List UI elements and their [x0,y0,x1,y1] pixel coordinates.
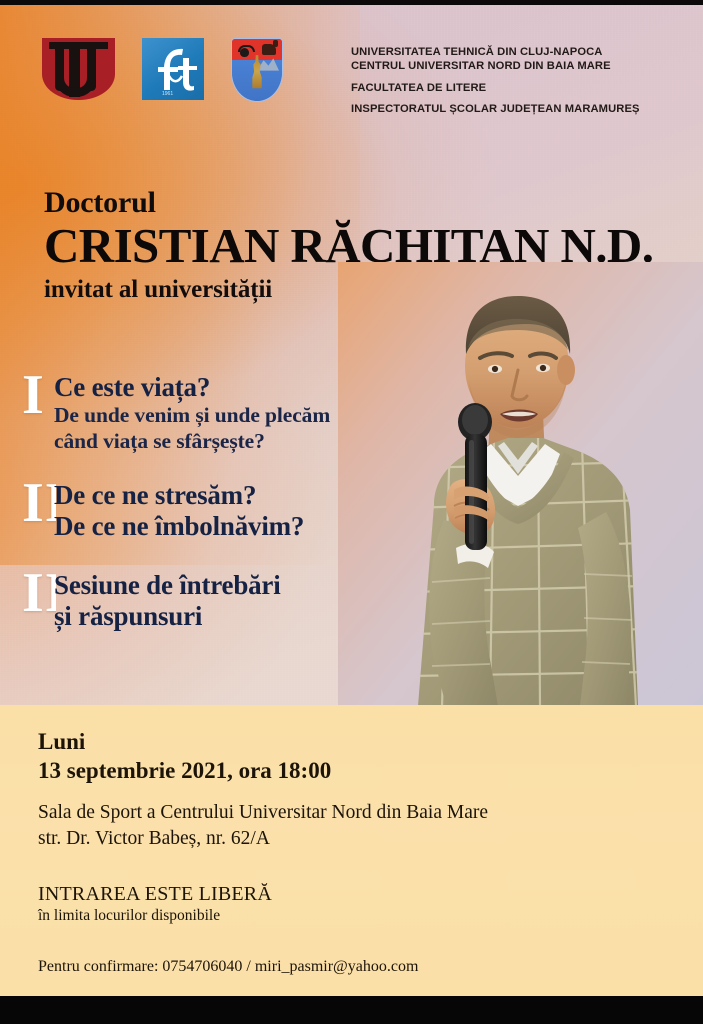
agenda-heading: Sesiune de întrebări [54,570,382,601]
faculty-of-letters-logo: 1961 [142,38,204,100]
utcn-logo [42,38,115,100]
agenda-item: II De ce ne stresăm? De ce ne îmbolnăvim… [22,480,382,544]
agenda-item: III Sesiune de întrebări și răspunsuri [22,570,382,634]
title-eyebrow: Doctorul [44,186,653,220]
agenda-numeral: I [22,374,56,436]
agenda-heading: Ce este viața? [54,372,382,403]
coa-animal-icon [262,44,276,55]
agenda-subline-1: și răspunsuri [54,601,382,632]
org-line-faculty: FACULTATEA DE LITERE [351,81,640,95]
agenda-numeral: II [22,482,56,544]
agenda-subline-1: De unde venim și unde plecăm [54,403,382,429]
free-entry-note: în limita locurilor disponibile [38,906,658,926]
speaker-photograph [338,262,703,706]
contact-line: Pentru confirmare: 0754706040 / miri_pas… [38,956,658,978]
org-line-center: CENTRUL UNIVERSITAR NORD DIN BAIA MARE [351,59,640,73]
agenda-heading: De ce ne stresăm? [54,480,382,511]
agenda-item-text: Sesiune de întrebări și răspunsuri [54,570,382,632]
coa-shield-shape [231,38,283,102]
agenda-list: I Ce este viața? De unde venim și unde p… [22,372,382,634]
svg-text:1961: 1961 [162,91,173,97]
agenda-item-text: Ce este viața? De unde venim și unde ple… [54,372,382,454]
top-black-bar [0,0,703,5]
event-day: Luni [38,727,658,756]
event-venue: Sala de Sport a Centrului Universitar No… [38,800,658,826]
free-entry-notice: INTRAREA ESTE LIBERĂ [38,882,658,906]
agenda-item: I Ce este viața? De unde venim și unde p… [22,372,382,454]
agenda-subline-2: când viața se sfârșește? [54,429,382,455]
coa-bull-head-icon [238,44,251,58]
poster-header: 1961 UNIVERSITATEA TEHNICĂ DIN CLUJ-NAPO… [0,5,703,125]
event-info-block: Luni 13 septembrie 2021, ora 18:00 Sala … [38,727,658,978]
agenda-numeral: III [22,572,56,634]
agenda-subline-1: De ce ne îmbolnăvim? [54,511,382,542]
org-line-university: UNIVERSITATEA TEHNICĂ DIN CLUJ-NAPOCA [351,45,640,59]
agenda-item-text: De ce ne stresăm? De ce ne îmbolnăvim? [54,480,382,542]
bottom-black-bar [0,996,703,1024]
event-address: str. Dr. Victor Babeș, nr. 62/A [38,826,658,852]
org-line-inspectorate: INSPECTORATUL ȘCOLAR JUDEȚEAN MARAMUREȘ [351,102,640,116]
organizer-text-block: UNIVERSITATEA TEHNICĂ DIN CLUJ-NAPOCA CE… [351,45,640,116]
poster-root: 1961 UNIVERSITATEA TEHNICĂ DIN CLUJ-NAPO… [0,0,703,1024]
maramures-coat-of-arms [231,38,283,102]
logo-row: 1961 [42,38,283,102]
event-date-time: 13 septembrie 2021, ora 18:00 [38,756,658,786]
